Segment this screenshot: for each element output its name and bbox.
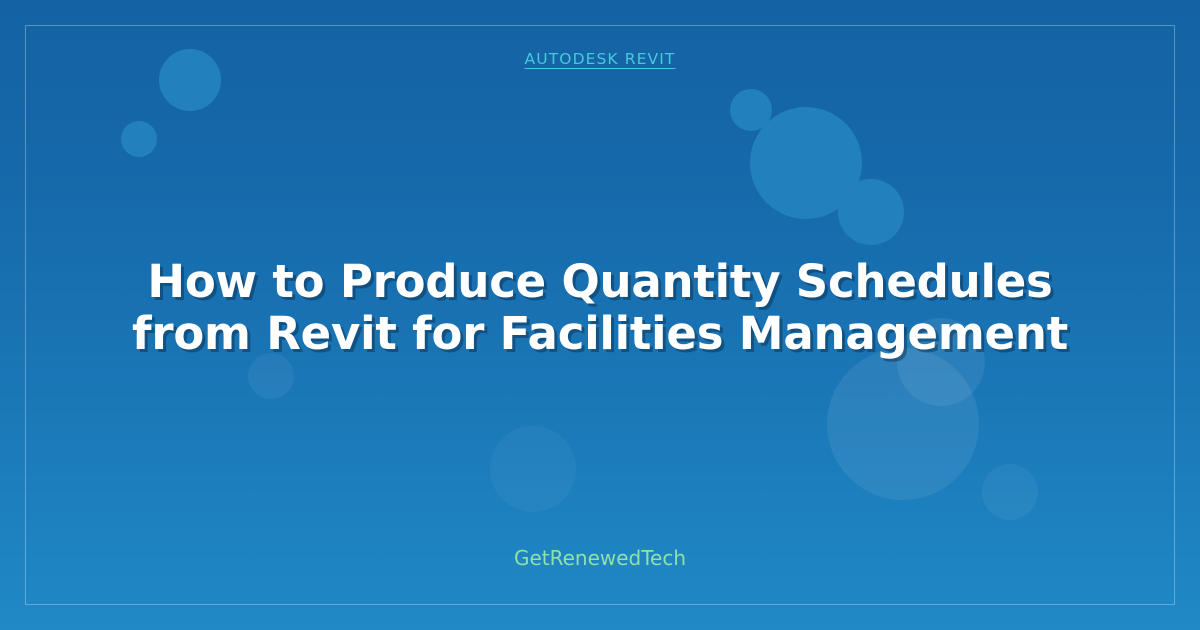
card-content: AUTODESK REVIT How to Produce Quantity S…	[0, 0, 1200, 630]
title-container: How to Produce Quantity Schedules from R…	[60, 68, 1140, 549]
page-title: How to Produce Quantity Schedules from R…	[90, 256, 1110, 360]
social-share-card: AUTODESK REVIT How to Produce Quantity S…	[0, 0, 1200, 630]
category-eyebrow-link[interactable]: AUTODESK REVIT	[525, 52, 676, 68]
site-brand-footer: GetRenewedTech	[514, 548, 686, 568]
